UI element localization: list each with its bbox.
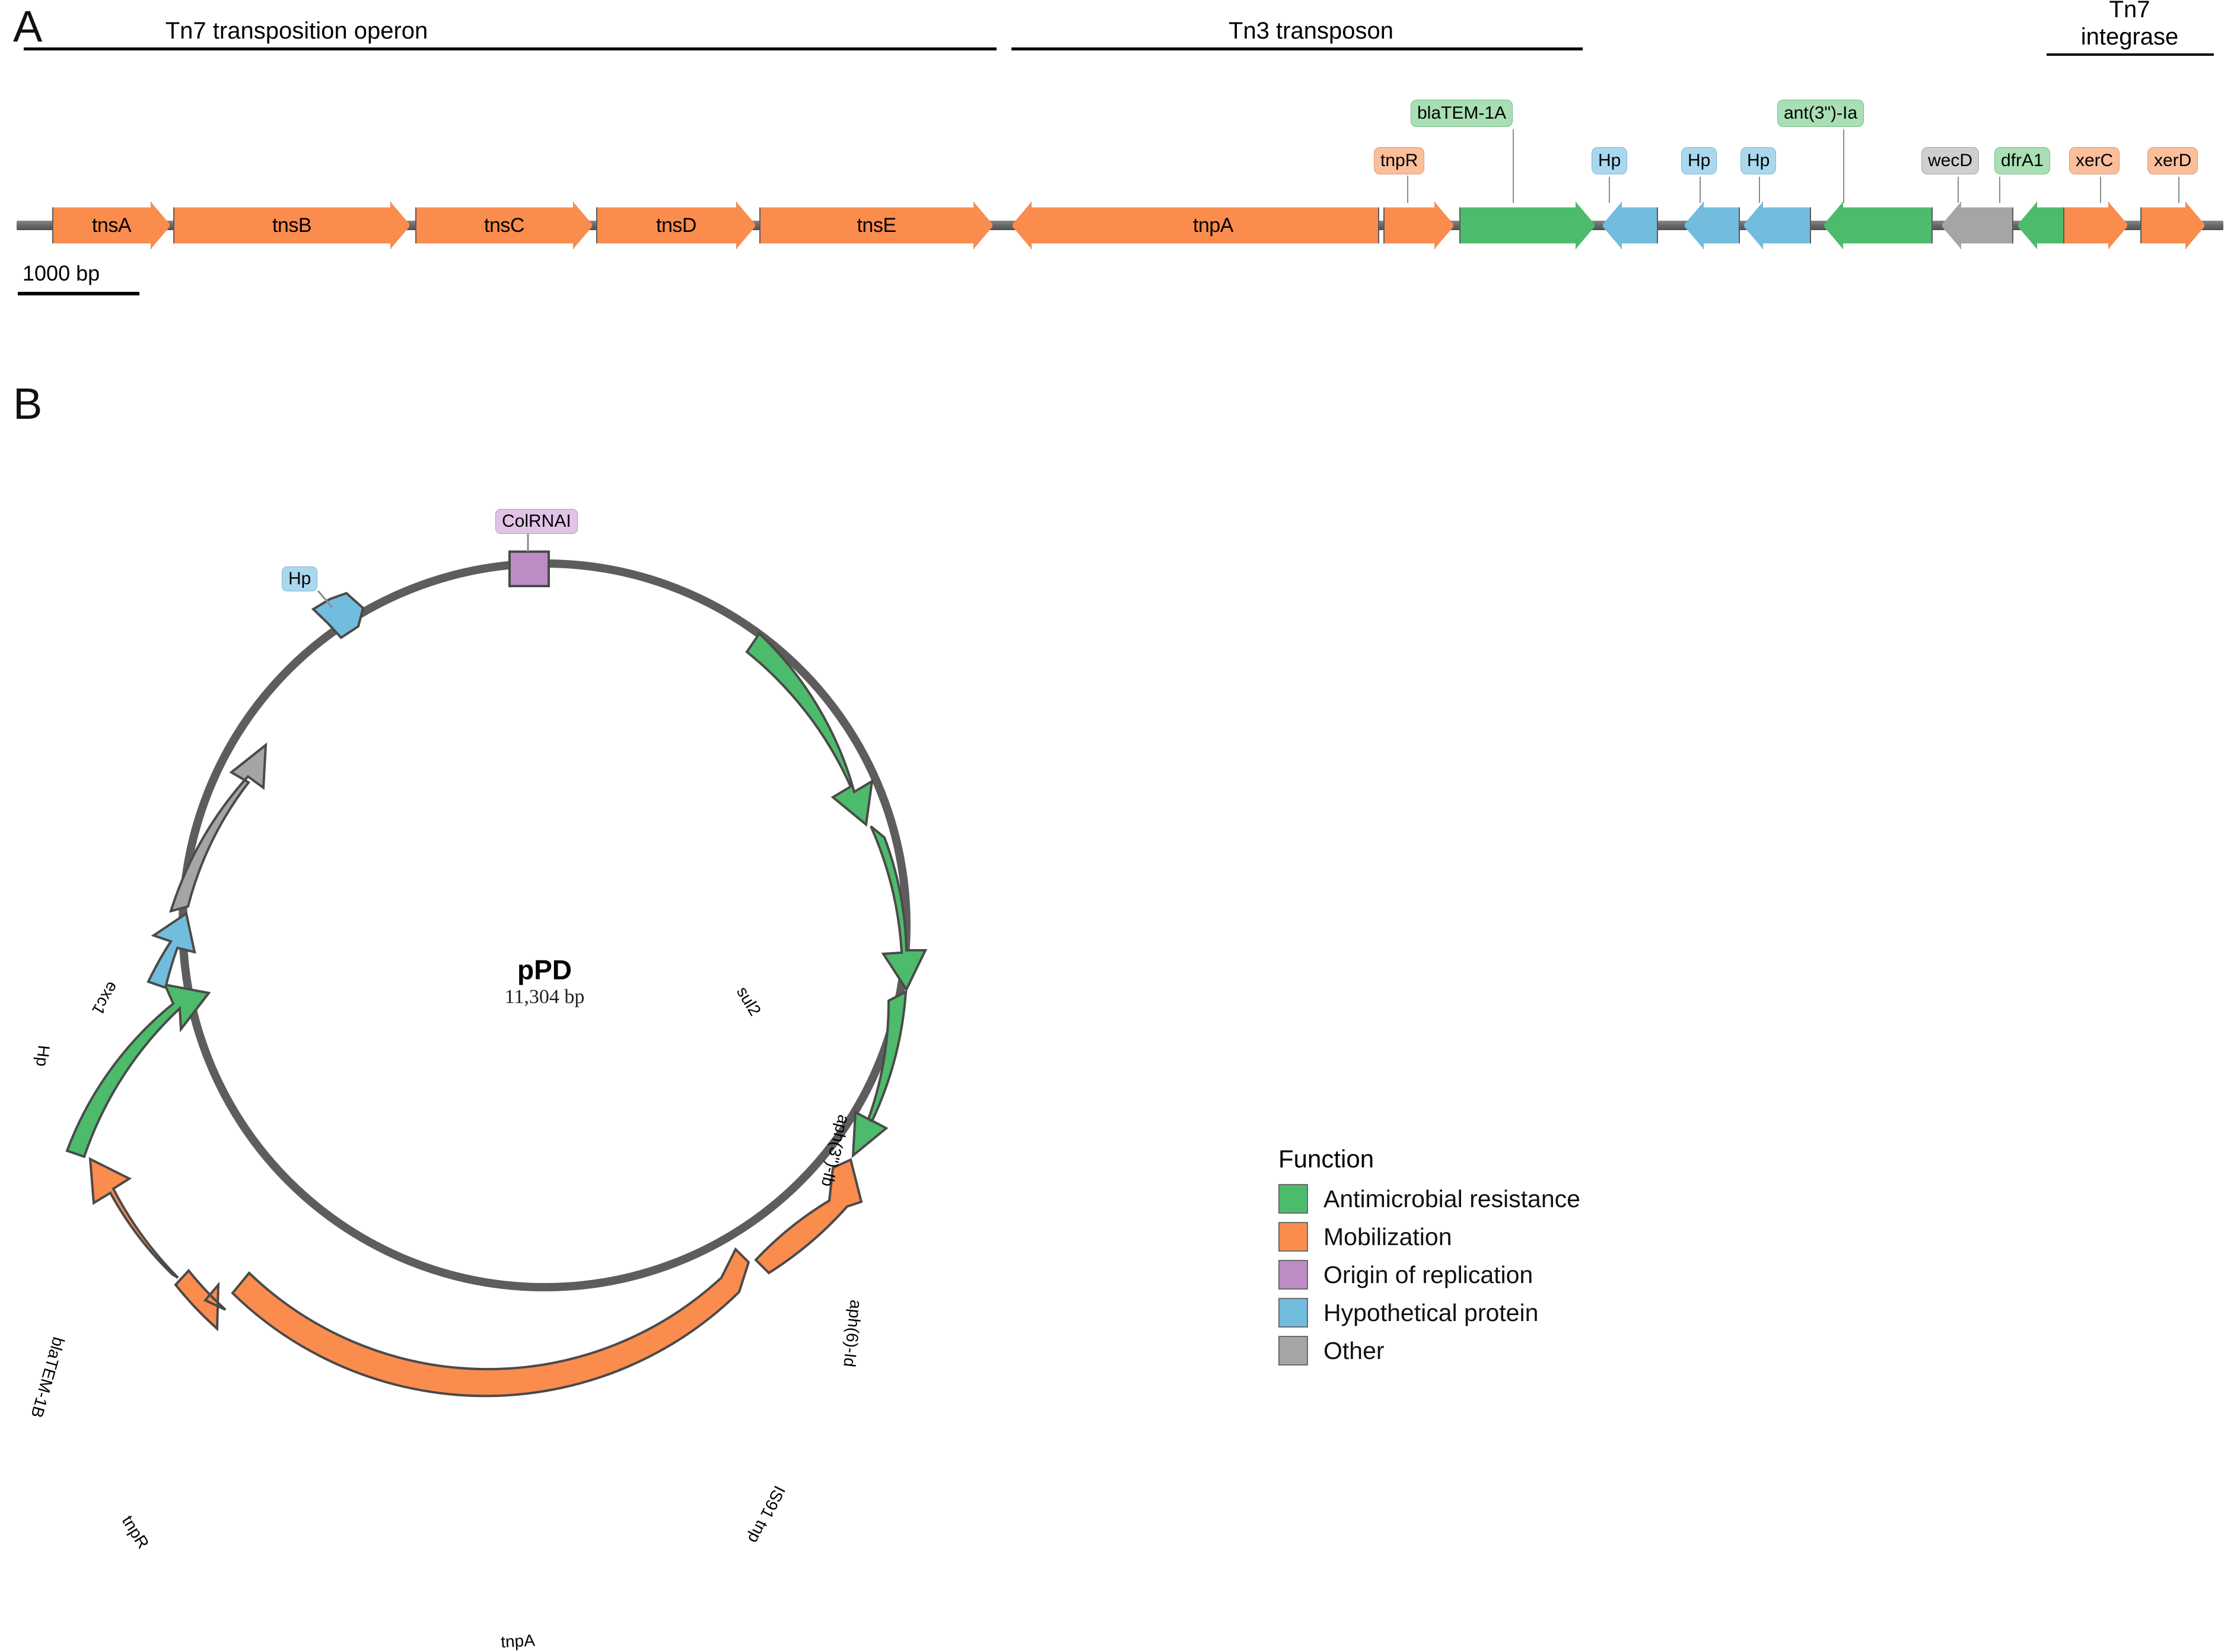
- legend: Function Antimicrobial resistance Mobili…: [1278, 1145, 1580, 1374]
- leader-wecD: [1958, 177, 1959, 203]
- callout-xerD: xerD: [2147, 147, 2198, 174]
- callout-hp-2: Hp: [1681, 147, 1717, 174]
- leader-hp-2: [1700, 177, 1701, 203]
- gene-tnsE[interactable]: tnsE: [759, 202, 994, 249]
- legend-label-origin: Origin of replication: [1323, 1261, 1533, 1289]
- gene-tnsB[interactable]: tnsB: [173, 202, 411, 249]
- legend-item-amr[interactable]: Antimicrobial resistance: [1278, 1184, 1580, 1214]
- legend-label-mobilization: Mobilization: [1323, 1223, 1452, 1251]
- gene-ant3-Ia[interactable]: [1823, 202, 1933, 249]
- callout-xerC: xerC: [2069, 147, 2120, 174]
- callout-wecD: wecD: [1921, 147, 1979, 174]
- feature-blaTEM-1B[interactable]: [67, 985, 209, 1157]
- legend-item-origin[interactable]: Origin of replication: [1278, 1260, 1580, 1290]
- gene-xerD[interactable]: [2140, 202, 2206, 249]
- gene-body: [2063, 202, 2128, 249]
- gene-hp-3[interactable]: [1743, 202, 1811, 249]
- legend-item-mobilization[interactable]: Mobilization: [1278, 1222, 1580, 1252]
- bracket-tn7-operon: [24, 47, 997, 50]
- panel-a: A Tn7 transposition operon Tn3 transposo…: [0, 0, 2237, 356]
- callout-tnpR: tnpR: [1374, 147, 1424, 174]
- bracket-label-tn3: Tn3 transposon: [1044, 18, 1578, 44]
- leader-dfrA1: [1999, 177, 2000, 203]
- gene-body: [1011, 202, 1379, 249]
- circ-label-IS91-tnp: IS91 tnp: [744, 1482, 789, 1546]
- gene-body: [1941, 202, 2013, 249]
- panel-b: B: [0, 356, 2237, 1478]
- legend-swatch-mobilization: [1278, 1222, 1308, 1252]
- gene-body: [1383, 202, 1455, 249]
- gene-tnsC[interactable]: tnsC: [415, 202, 593, 249]
- legend-swatch-other: [1278, 1336, 1308, 1365]
- gene-tnsD[interactable]: tnsD: [596, 202, 756, 249]
- callout-dfrA1: dfrA1: [1994, 147, 2050, 174]
- callout-hp-3: Hp: [1740, 147, 1776, 174]
- gene-body: [173, 202, 411, 249]
- gene-body: [1459, 202, 1596, 249]
- leader-hp-1: [1609, 177, 1610, 203]
- gene-tnsA[interactable]: tnsA: [52, 202, 171, 249]
- leader-ant3-Ia: [1843, 129, 1844, 203]
- gene-body: [1684, 202, 1740, 249]
- leader-xerD: [2178, 177, 2179, 203]
- feature-tnpA[interactable]: [233, 1249, 749, 1396]
- gene-wecD[interactable]: [1941, 202, 2013, 249]
- plasmid-name: pPD: [456, 954, 634, 986]
- leader-tnpR: [1407, 176, 1408, 203]
- gene-body: [1743, 202, 1811, 249]
- feature-tnpR[interactable]: [90, 1159, 225, 1329]
- callout-hp-1: Hp: [1592, 147, 1627, 174]
- pill-ColRNAI: ColRNAI: [495, 509, 578, 534]
- bracket-label-tn7-operon: Tn7 transposition operon: [148, 18, 445, 44]
- feature-ColRNAI[interactable]: [510, 552, 549, 586]
- legend-swatch-amr: [1278, 1184, 1308, 1214]
- legend-swatch-hypothetical: [1278, 1298, 1308, 1328]
- feature-Hp-top[interactable]: [313, 593, 363, 638]
- legend-swatch-origin: [1278, 1260, 1308, 1290]
- gene-body: [1823, 202, 1933, 249]
- scale-bar-label: 1000 bp: [23, 261, 100, 286]
- gene-xerC[interactable]: [2063, 202, 2128, 249]
- gene-tnpA[interactable]: tnpA: [1011, 202, 1379, 249]
- leader-hp-3: [1759, 177, 1760, 203]
- legend-label-other: Other: [1323, 1337, 1385, 1365]
- plasmid-backbone-circle: [183, 564, 906, 1287]
- gene-tnpR[interactable]: [1383, 202, 1455, 249]
- gene-body: [2140, 202, 2206, 249]
- legend-title: Function: [1278, 1145, 1580, 1173]
- callout-blaTEM-1A: blaTEM-1A: [1411, 100, 1513, 127]
- panel-a-letter: A: [13, 5, 42, 49]
- circ-label-tnpA: tnpA: [500, 1631, 535, 1652]
- gene-body: [415, 202, 593, 249]
- bracket-tn3: [1011, 47, 1583, 50]
- gene-body: [52, 202, 171, 249]
- plasmid-map: [0, 356, 1157, 1478]
- feature-aph6-Id[interactable]: [853, 992, 906, 1156]
- gene-body: [596, 202, 756, 249]
- legend-label-hypothetical: Hypothetical protein: [1323, 1299, 1538, 1327]
- legend-item-other[interactable]: Other: [1278, 1336, 1580, 1365]
- legend-item-hypothetical[interactable]: Hypothetical protein: [1278, 1298, 1580, 1328]
- callout-ant3-Ia: ant(3")-Ia: [1777, 100, 1864, 127]
- plasmid-size: 11,304 bp: [456, 986, 634, 1008]
- gene-hp-1[interactable]: [1602, 202, 1658, 249]
- circ-label-tnpR: tnpR: [118, 1512, 152, 1552]
- leader-xerC: [2100, 177, 2101, 203]
- bracket-label-tn7-integrase-line2: integrase: [2041, 24, 2219, 50]
- gene-body: [1602, 202, 1658, 249]
- pill-Hp-top: Hp: [282, 566, 317, 591]
- legend-label-amr: Antimicrobial resistance: [1323, 1185, 1580, 1213]
- leader-blaTEM-1A: [1513, 129, 1514, 203]
- bracket-tn7-integrase: [2047, 53, 2214, 56]
- gene-body: [759, 202, 994, 249]
- scale-bar-rule: [18, 292, 139, 295]
- circ-label-Hp-left: Hp: [32, 1045, 53, 1068]
- gene-hp-2[interactable]: [1684, 202, 1740, 249]
- gene-blaTEM-1A[interactable]: [1459, 202, 1596, 249]
- bracket-label-tn7-integrase-line1: Tn7: [2041, 0, 2219, 23]
